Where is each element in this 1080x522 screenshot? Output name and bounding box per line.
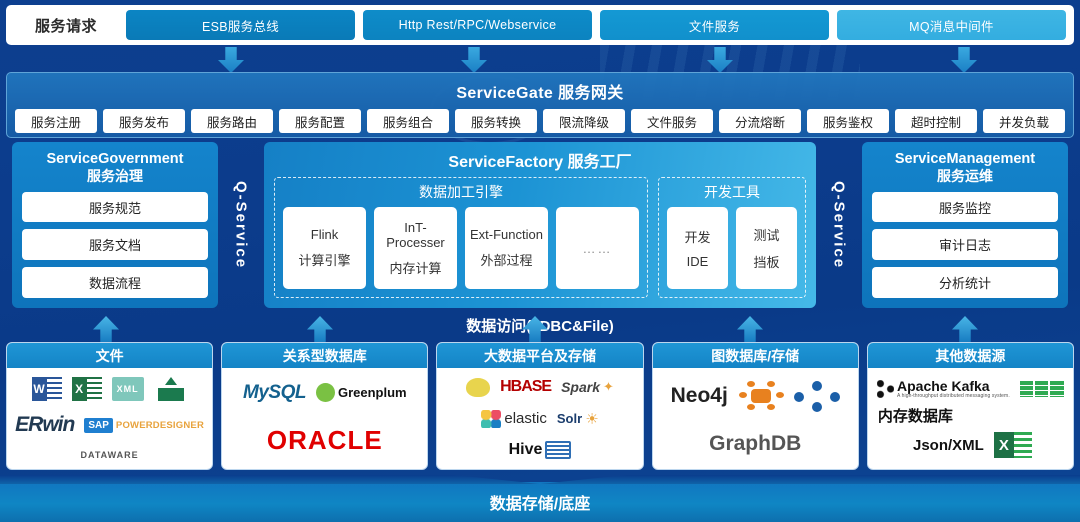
service-government-rows: 服务规范 服务文档 数据流程 (22, 192, 208, 298)
grid-table-icon (1020, 380, 1064, 397)
gov-row-service-doc[interactable]: 服务文档 (22, 229, 208, 260)
source-card-relational-db-body: MySQL Greenplum ORACLE (222, 368, 427, 469)
source-card-bigdata-body: HBASE Spark ✦ elastic Solr ☀ Hive (437, 368, 642, 469)
powerdesigner-label: POWERDESIGNER (116, 420, 204, 431)
service-management-rows: 服务监控 审计日志 分析统计 (872, 192, 1058, 298)
elastic-logo: elastic (481, 410, 547, 428)
engine-card-ext-function-name: Ext-Function (470, 227, 543, 242)
service-request-bar: 服务请求 ESB服务总线 Http Rest/RPC/Webservice 文件… (6, 5, 1074, 45)
service-gate-chip-row: 服务注册 服务发布 服务路由 服务配置 服务组合 服务转换 限流降级 文件服务 … (7, 103, 1073, 133)
gate-chip-concurrency-load[interactable]: 并发负载 (983, 109, 1065, 133)
hbase-logo: HBASE (500, 378, 551, 396)
memory-db-label: 内存数据库 (878, 405, 1067, 426)
excel-icon-letter: X (994, 432, 1014, 458)
excel-file-icon: X (72, 377, 102, 401)
gate-chip-timeout-control[interactable]: 超时控制 (895, 109, 977, 133)
source-card-graph-db[interactable]: 图数据库/存储 Neo4j GraphDB (652, 342, 859, 470)
engine-card-ext-function-desc: 外部过程 (480, 250, 532, 269)
gate-chip-service-register[interactable]: 服务注册 (15, 109, 97, 133)
hive-bee-icon (466, 378, 490, 397)
spark-star-icon: ✦ (603, 379, 614, 395)
dev-tools-cards: 开发 IDE 测试 挡板 (667, 207, 797, 289)
greenplum-logo: Greenplum (316, 383, 407, 402)
kafka-tagline: A high-throughput distributed messaging … (897, 394, 1010, 400)
dev-tools-group: 开发工具 开发 IDE 测试 挡板 (658, 177, 806, 298)
tools-card-test-desc: 挡板 (753, 252, 779, 271)
source-card-relational-db-title: 关系型数据库 (222, 343, 427, 368)
elastic-mark-icon (481, 410, 501, 428)
solr-logo: Solr ☀ (557, 410, 599, 428)
kafka-logo: Apache Kafka A high-throughput distribut… (877, 379, 1010, 400)
data-processing-engine-group: 数据加工引擎 Flink 计算引擎 InT-Processer 内存计算 Ext… (274, 177, 648, 298)
elastic-label: elastic (504, 410, 547, 427)
source-card-files-title: 文件 (7, 343, 212, 368)
gate-chip-rate-limit[interactable]: 限流降级 (543, 109, 625, 133)
solr-label: Solr (557, 411, 582, 426)
erwin-logo: ERwin (15, 413, 74, 437)
tools-card-dev-name: 开发 (684, 227, 710, 246)
tools-card-dev-desc: IDE (687, 254, 709, 269)
source-card-other-title: 其他数据源 (868, 343, 1073, 368)
gate-chip-circuit-breaker[interactable]: 分流熔断 (719, 109, 801, 133)
tools-card-test-name: 测试 (753, 225, 779, 244)
arrow-down-icon-2 (461, 47, 487, 73)
gov-row-data-flow[interactable]: 数据流程 (22, 267, 208, 298)
source-card-graph-db-title: 图数据库/存储 (653, 343, 858, 368)
oracle-logo: ORACLE (267, 425, 383, 456)
source-card-other-body: Apache Kafka A high-throughput distribut… (868, 368, 1073, 469)
engine-card-flink-desc: 计算引擎 (298, 250, 350, 269)
q-service-left-text: Q-Service (233, 181, 250, 269)
solr-sun-icon: ☀ (585, 410, 598, 428)
source-card-files-body: W X XML ERwin SAP POWERDESIGNER DATAWARE (7, 368, 212, 469)
source-card-other[interactable]: 其他数据源 Apache Kafka A high-throughput dis… (867, 342, 1074, 470)
graphdb-mark-icon (738, 381, 784, 411)
gate-chip-service-publish[interactable]: 服务发布 (103, 109, 185, 133)
mgmt-row-service-monitor[interactable]: 服务监控 (872, 192, 1058, 223)
gate-chip-file-service[interactable]: 文件服务 (631, 109, 713, 133)
spark-label: Spark (561, 379, 600, 395)
arrow-down-icon-3 (707, 47, 733, 73)
service-management-title-cn: 服务运维 (872, 168, 1058, 186)
service-government-title-cn: 服务治理 (22, 168, 208, 186)
arrow-down-icon-1 (218, 47, 244, 73)
service-government-panel: ServiceGovernment 服务治理 服务规范 服务文档 数据流程 (12, 142, 218, 308)
hive-logo: Hive (509, 441, 572, 459)
architecture-diagram: 服务请求 ESB服务总线 Http Rest/RPC/Webservice 文件… (0, 0, 1080, 522)
engine-card-int-processer[interactable]: InT-Processer 内存计算 (374, 207, 457, 289)
middle-band: ServiceGovernment 服务治理 服务规范 服务文档 数据流程 Q-… (6, 142, 1074, 308)
service-gate-panel: ServiceGate 服务网关 服务注册 服务发布 服务路由 服务配置 服务组… (6, 72, 1074, 138)
service-government-title-en: ServiceGovernment (22, 150, 208, 168)
word-icon-letter: W (32, 377, 47, 401)
engine-card-int-processer-desc: 内存计算 (389, 258, 441, 277)
source-card-files[interactable]: 文件 W X XML ERwin SAP POWERDESIGNER DATAW… (6, 342, 213, 470)
excel-icon: X (994, 432, 1032, 458)
service-request-label: 服务请求 (14, 15, 118, 36)
json-xml-label: Json/XML (913, 437, 984, 454)
gate-chip-service-compose[interactable]: 服务组合 (367, 109, 449, 133)
request-button-esb[interactable]: ESB服务总线 (126, 10, 355, 40)
service-factory-title: ServiceFactory 服务工厂 (274, 148, 806, 177)
xml-icon: XML (112, 377, 144, 401)
service-factory-body: 数据加工引擎 Flink 计算引擎 InT-Processer 内存计算 Ext… (274, 177, 806, 298)
source-card-bigdata-title: 大数据平台及存储 (437, 343, 642, 368)
hive-disk-icon (545, 441, 571, 459)
gate-chip-service-config[interactable]: 服务配置 (279, 109, 361, 133)
data-source-cards: 文件 W X XML ERwin SAP POWERDESIGNER DATAW… (6, 342, 1074, 470)
gate-chip-service-auth[interactable]: 服务鉴权 (807, 109, 889, 133)
mysql-logo: MySQL (243, 382, 306, 404)
service-management-header: ServiceManagement 服务运维 (872, 150, 1058, 186)
dataware-logo: DATAWARE (81, 450, 139, 460)
q-service-left-label: Q-Service (218, 142, 264, 308)
request-button-file-service[interactable]: 文件服务 (600, 10, 829, 40)
gate-chip-service-transform[interactable]: 服务转换 (455, 109, 537, 133)
dev-tools-title: 开发工具 (667, 182, 797, 207)
kafka-mark-icon (877, 380, 894, 398)
mgmt-row-audit-log[interactable]: 审计日志 (872, 229, 1058, 260)
engine-card-flink-name: Flink (311, 227, 338, 242)
hive-label: Hive (509, 441, 543, 459)
tools-card-test-stub[interactable]: 测试 挡板 (736, 207, 797, 289)
spark-logo: Spark ✦ (561, 379, 614, 395)
gate-chip-service-route[interactable]: 服务路由 (191, 109, 273, 133)
engine-card-more-label: …… (583, 241, 613, 256)
tools-card-dev-ide[interactable]: 开发 IDE (667, 207, 728, 289)
neo4j-logo: Neo4j (671, 384, 728, 408)
word-icon: W (32, 377, 62, 401)
sap-powerdesigner-logo: SAP POWERDESIGNER (84, 418, 204, 433)
data-processing-engine-cards: Flink 计算引擎 InT-Processer 内存计算 Ext-Functi… (283, 207, 639, 289)
engine-card-int-processer-name: InT-Processer (376, 220, 455, 250)
kafka-label: Apache Kafka (897, 379, 1010, 394)
source-card-bigdata[interactable]: 大数据平台及存储 HBASE Spark ✦ elastic Solr ☀ Hi… (436, 342, 643, 470)
service-management-panel: ServiceManagement 服务运维 服务监控 审计日志 分析统计 (862, 142, 1068, 308)
greenplum-mark-icon (316, 383, 335, 402)
mgmt-row-analytics[interactable]: 分析统计 (872, 267, 1058, 298)
database-icon (154, 377, 188, 401)
source-card-relational-db[interactable]: 关系型数据库 MySQL Greenplum ORACLE (221, 342, 428, 470)
service-gate-title: ServiceGate 服务网关 (7, 73, 1073, 103)
gov-row-service-spec[interactable]: 服务规范 (22, 192, 208, 223)
engine-card-ext-function[interactable]: Ext-Function 外部过程 (465, 207, 548, 289)
data-storage-foundation-title: 数据存储/底座 (490, 490, 590, 514)
service-management-title-en: ServiceManagement (872, 150, 1058, 168)
data-storage-foundation-bar: 数据存储/底座 (0, 482, 1080, 522)
arrow-down-icon-4 (951, 47, 977, 73)
q-service-right-text: Q-Service (831, 181, 848, 269)
request-button-http-rest[interactable]: Http Rest/RPC/Webservice (363, 10, 592, 40)
graphdb-logo: GraphDB (709, 432, 801, 456)
request-button-mq[interactable]: MQ消息中间件 (837, 10, 1066, 40)
q-service-right-label: Q-Service (816, 142, 862, 308)
service-government-header: ServiceGovernment 服务治理 (22, 150, 208, 186)
engine-card-more[interactable]: …… (556, 207, 639, 289)
greenplum-label: Greenplum (338, 385, 407, 400)
excel-file-icon-letter: X (72, 377, 87, 401)
source-card-graph-db-body: Neo4j GraphDB (653, 368, 858, 469)
sap-logo: SAP (84, 418, 113, 433)
data-processing-engine-title: 数据加工引擎 (283, 182, 639, 207)
service-factory-panel: ServiceFactory 服务工厂 数据加工引擎 Flink 计算引擎 In… (264, 142, 816, 308)
neo4j-graph-icon (794, 381, 840, 411)
engine-card-flink[interactable]: Flink 计算引擎 (283, 207, 366, 289)
